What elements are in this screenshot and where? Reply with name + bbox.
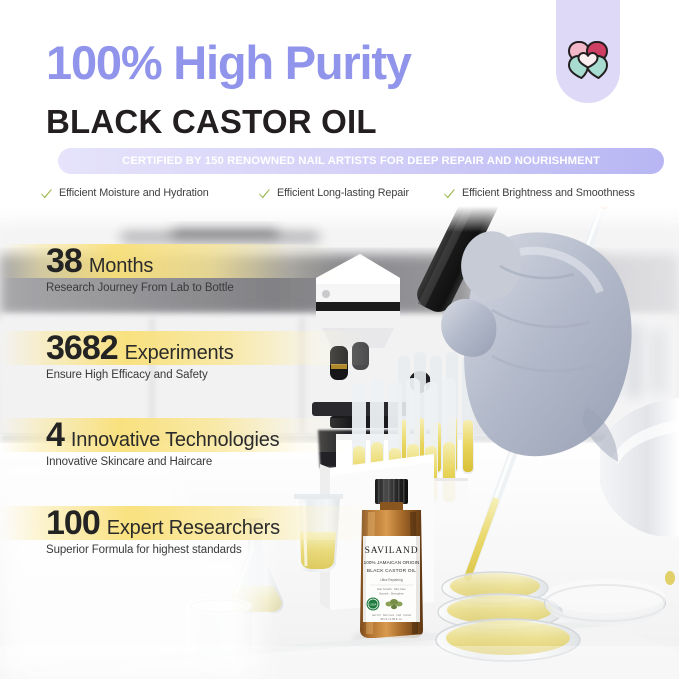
stat-headline: 3682 Experiments — [0, 331, 420, 365]
stat-number: 100 — [46, 506, 100, 540]
stat-headline: 38 Months — [0, 244, 420, 278]
stat-description: Superior Formula for highest standards — [0, 544, 420, 556]
stat-unit: Expert Researchers — [107, 511, 280, 545]
stat-headline: 4 Innovative Technologies — [0, 418, 420, 452]
stat-item: 4 Innovative Technologies Innovative Ski… — [0, 418, 420, 468]
feature-item: Efficient Long-lasting Repair — [258, 183, 443, 203]
page-subtitle: BLACK CASTOR OIL — [46, 104, 377, 140]
stat-description: Research Journey From Lab to Bottle — [0, 282, 420, 294]
certified-banner-label: CERTIFIED BY 150 RENOWNED NAIL ARTISTS F… — [122, 155, 600, 167]
stat-unit: Experiments — [125, 336, 234, 370]
stat-number: 38 — [46, 244, 82, 278]
check-icon — [40, 187, 53, 200]
stat-description: Innovative Skincare and Haircare — [0, 456, 420, 468]
brand-logo-badge — [556, 0, 620, 103]
stat-item: 100 Expert Researchers Superior Formula … — [0, 506, 420, 556]
page-title: 100% High Purity — [46, 38, 411, 87]
feature-item: Efficient Brightness and Smoothness — [443, 183, 635, 203]
feature-item: Efficient Moisture and Hydration — [40, 183, 258, 203]
feature-label: Efficient Brightness and Smoothness — [462, 187, 635, 199]
stats-list: 38 Months Research Journey From Lab to B… — [0, 206, 679, 679]
stat-unit: Innovative Technologies — [71, 423, 280, 457]
certified-banner: CERTIFIED BY 150 RENOWNED NAIL ARTISTS F… — [58, 148, 664, 174]
feature-list: Efficient Moisture and Hydration Efficie… — [40, 183, 660, 203]
stat-item: 38 Months Research Journey From Lab to B… — [0, 244, 420, 294]
check-icon — [443, 187, 456, 200]
feature-label: Efficient Long-lasting Repair — [277, 187, 409, 199]
stat-description: Ensure High Efficacy and Safety — [0, 369, 420, 381]
stat-number: 3682 — [46, 331, 118, 365]
stat-item: 3682 Experiments Ensure High Efficacy an… — [0, 331, 420, 381]
check-icon — [258, 187, 271, 200]
product-infographic: SAVILAND 100% JAMAICAN ORIGIN BLACK CAST… — [0, 0, 679, 679]
stat-headline: 100 Expert Researchers — [0, 506, 420, 540]
stat-unit: Months — [89, 249, 153, 283]
stat-number: 4 — [46, 418, 64, 452]
feature-label: Efficient Moisture and Hydration — [59, 187, 209, 199]
saviland-flower-logo-icon — [565, 38, 611, 82]
